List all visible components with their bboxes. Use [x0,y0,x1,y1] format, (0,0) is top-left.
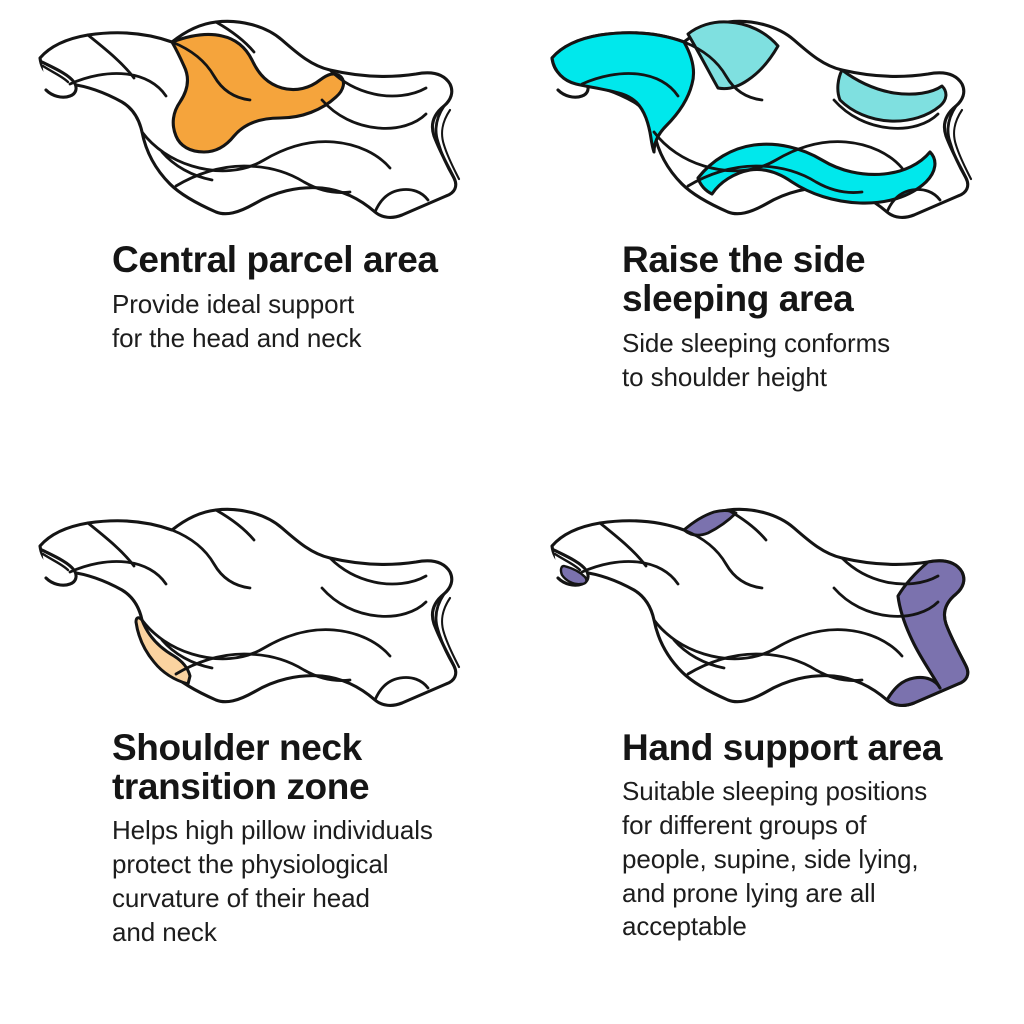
panel-description: Provide ideal support for the head and n… [112,288,498,356]
panel-central-parcel-area: Central parcel area Provide ideal suppor… [0,0,512,488]
panel-hand-support-area: Hand support area Suitable sleeping posi… [512,488,1024,1024]
pillow-illustration-orange [0,0,512,240]
panel-description: Helps high pillow individuals protect th… [112,814,498,949]
panel-title: Raise the side sleeping area [622,240,1010,318]
pillow-illustration-purple [512,488,1024,728]
panel-description: Side sleeping conforms to shoulder heigh… [622,327,1010,395]
infographic-sheet: Central parcel area Provide ideal suppor… [0,0,1024,1024]
pillow-illustration-cyan [512,0,1024,240]
panel-title: Central parcel area [112,240,498,279]
panel-title: Shoulder neck transition zone [112,728,498,806]
panel-text-block: Shoulder neck transition zone Helps high… [0,728,512,950]
panel-title: Hand support area [622,728,1010,767]
panel-text-block: Raise the side sleeping area Side sleepi… [512,240,1024,395]
panel-grid: Central parcel area Provide ideal suppor… [0,0,1024,1024]
panel-text-block: Hand support area Suitable sleeping posi… [512,728,1024,944]
panel-text-block: Central parcel area Provide ideal suppor… [0,240,512,356]
panel-raise-the-side-sleeping-area: Raise the side sleeping area Side sleepi… [512,0,1024,488]
panel-description: Suitable sleeping positions for differen… [622,775,1010,944]
panel-shoulder-neck-transition-zone: Shoulder neck transition zone Helps high… [0,488,512,1024]
pillow-illustration-peach [0,488,512,728]
